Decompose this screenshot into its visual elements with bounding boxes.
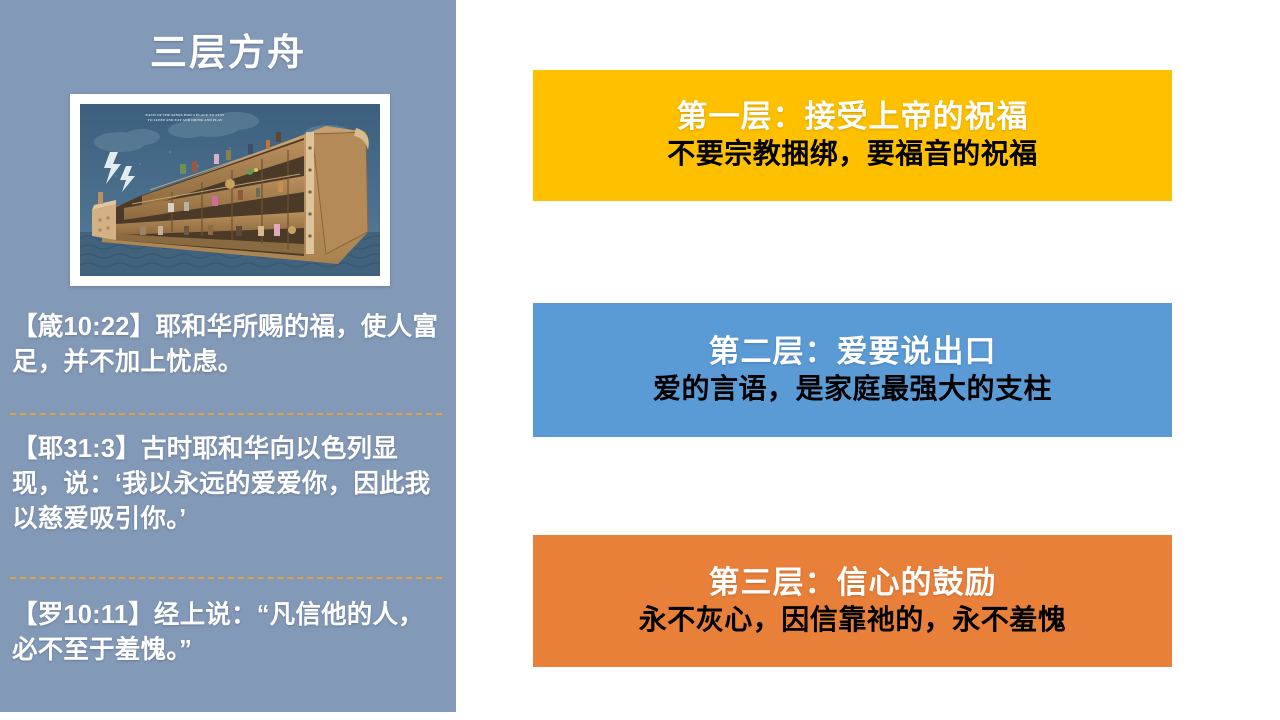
page-title: 三层方舟 [0, 32, 456, 75]
layer-heading-second: 第二层：爱要说出口 [709, 335, 997, 369]
scripture-divider [10, 577, 442, 579]
ark-image-frame: EACH OF THE KINDS HAD A PLACE TO STAY TO… [70, 94, 390, 286]
layer-subtext-first: 不要宗教捆绑，要福音的祝福 [667, 138, 1038, 170]
layer-box-second: 第二层：爱要说出口 爱的言语，是家庭最强大的支柱 [533, 303, 1172, 437]
sidebar-panel: 三层方舟 [0, 0, 456, 712]
scripture-verse-proverbs: 【箴10:22】耶和华所赐的福，使人富足，并不加上忧虑。 [12, 310, 448, 380]
layer-box-third: 第三层：信心的鼓励 永不灰心，因信靠祂的，永不羞愧 [533, 535, 1172, 667]
layer-heading-third: 第三层：信心的鼓励 [709, 566, 997, 600]
layer-subtext-third: 永不灰心，因信靠祂的，永不羞愧 [639, 604, 1067, 636]
scripture-verse-romans: 【罗10:11】经上说：“凡信他的人，必不至于羞愧。” [12, 598, 448, 668]
scripture-verse-jeremiah: 【耶31:3】古时耶和华向以色列显现，说：‘我以永远的爱爱你，因此我以慈爱吸引你… [12, 432, 448, 538]
layer-box-first: 第一层：接受上帝的祝福 不要宗教捆绑，要福音的祝福 [533, 70, 1172, 201]
scripture-divider [10, 413, 442, 415]
layer-heading-first: 第一层：接受上帝的祝福 [677, 100, 1029, 134]
noahs-ark-cutaway-icon: EACH OF THE KINDS HAD A PLACE TO STAY TO… [80, 104, 380, 276]
ark-illustration-svg [80, 104, 380, 276]
slide-root: 三层方舟 [0, 0, 1280, 720]
layer-subtext-second: 爱的言语，是家庭最强大的支柱 [653, 373, 1052, 405]
